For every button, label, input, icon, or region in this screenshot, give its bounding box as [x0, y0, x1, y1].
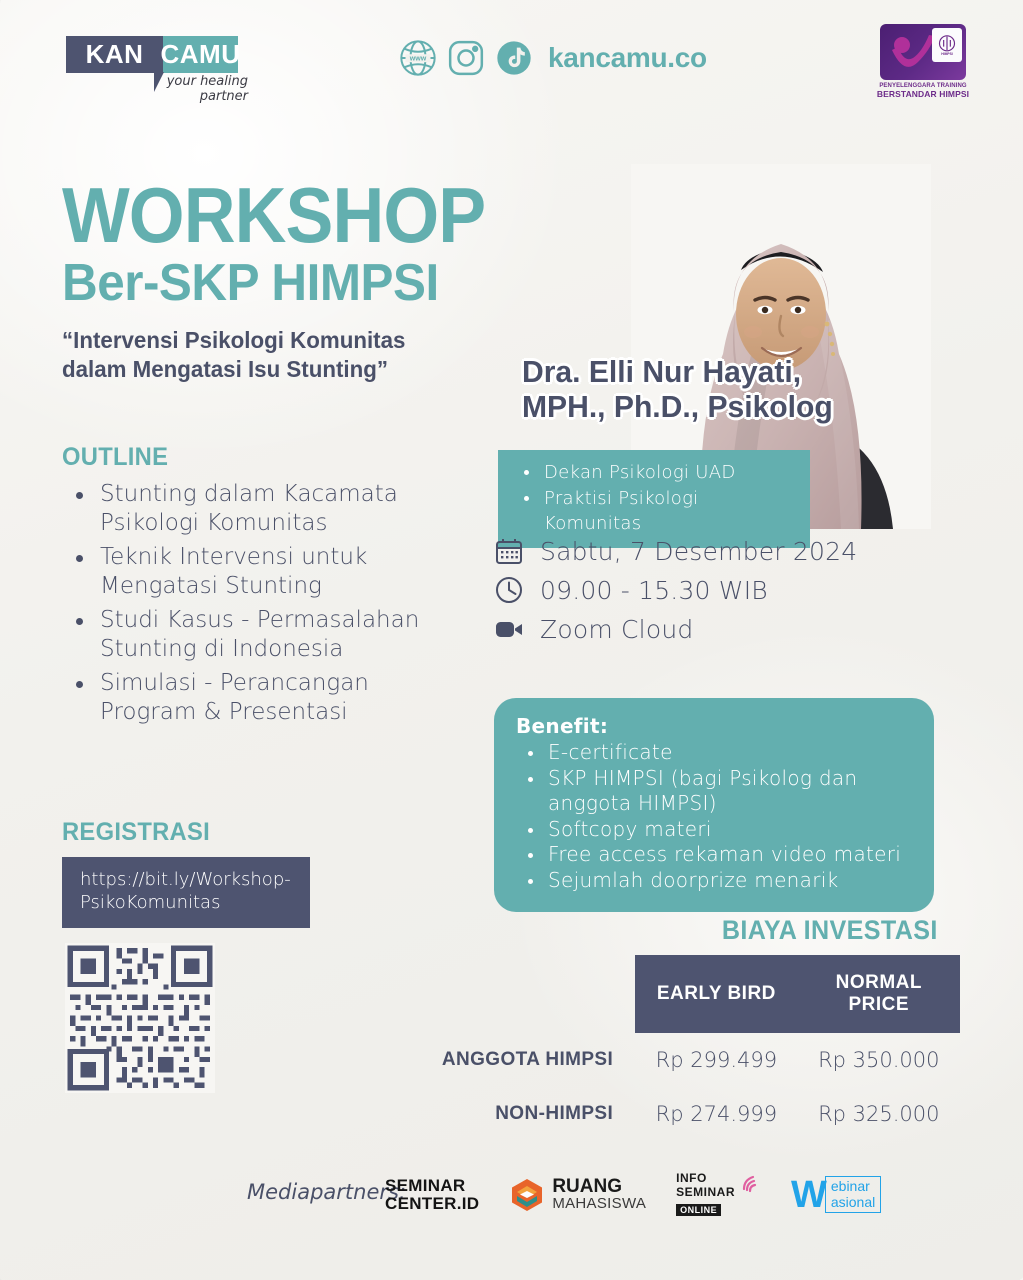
page-subtitle: Ber-SKP HIMPSI	[62, 256, 461, 311]
poster-footer: Mediapartners: SEMINAR CENTER.ID RUANG M…	[0, 1172, 1023, 1262]
himpsi-mark-icon: HIMPSI	[880, 24, 966, 80]
price-anggota-normal: Rp 350.000	[798, 1033, 960, 1087]
column-header-early-bird: EARLY BIRD	[635, 955, 797, 1033]
list-item: SKP HIMPSI (bagi Psikolog dan anggota HI…	[516, 766, 914, 817]
partner-logo-ruang-mahasiswa: RUANG MAHASISWA	[509, 1177, 646, 1213]
partner-seminar-line2: CENTER.ID	[385, 1195, 479, 1213]
himpsi-seal-icon: HIMPSI	[932, 28, 962, 62]
list-item: Free access rekaman video materi	[516, 842, 914, 868]
partner-seminar-line1: SEMINAR	[385, 1177, 479, 1195]
tiktok-icon[interactable]	[494, 38, 534, 78]
partner-webinar-line1: ebinar	[831, 1179, 875, 1195]
partner-ruang-line1: RUANG	[552, 1177, 646, 1196]
table-row: ANGGOTA HIMPSI Rp 299.499 Rp 350.000	[400, 1033, 960, 1087]
price-non-himpsi-normal: Rp 325.000	[798, 1087, 960, 1141]
partner-logo-webinar-nasional: W ebinar asional	[791, 1176, 881, 1213]
list-item: Simulasi - Perancangan Program & Present…	[62, 669, 472, 728]
partner-logo-seminar-center: SEMINAR CENTER.ID	[385, 1177, 479, 1213]
column-header-blank	[400, 955, 635, 1033]
globe-icon[interactable]: www	[398, 38, 438, 78]
pricing-table: EARLY BIRD NORMAL PRICE ANGGOTA HIMPSI R…	[400, 955, 960, 1141]
list-item: Dekan Psikologi UAD	[512, 460, 796, 486]
benefit-heading: Benefit:	[516, 714, 914, 738]
logo-kan-block: KAN	[66, 36, 163, 73]
partner-ruang-line2: MAHASISWA	[552, 1196, 646, 1213]
registration-section: REGISTRASI https://bit.ly/Workshop-Psiko…	[62, 818, 362, 928]
speaker-credentials-box: Dekan Psikologi UAD Praktisi Psikologi K…	[498, 450, 810, 548]
pricing-section: BIAYA INVESTASI EARLY BIRD NORMAL PRICE …	[400, 915, 960, 1141]
event-time-row: 09.00 - 15.30 WIB	[494, 575, 914, 605]
svg-text:www: www	[409, 55, 427, 63]
clock-icon	[494, 575, 524, 605]
table-row: NON-HIMPSI Rp 274.999 Rp 325.000	[400, 1087, 960, 1141]
column-header-normal-price: NORMAL PRICE	[798, 955, 960, 1033]
logo-camu-block: CAMU	[163, 36, 238, 73]
list-item: Praktisi Psikologi Komunitas	[512, 486, 796, 537]
workshop-theme-quote: “Intervensi Psikologi Komunitas dalam Me…	[62, 326, 469, 384]
title-block: WORKSHOP Ber-SKP HIMPSI “Intervensi Psik…	[62, 180, 482, 384]
social-handles: www kancamu.co	[398, 38, 707, 78]
event-time: 09.00 - 15.30 WIB	[540, 576, 768, 605]
partner-info-line3: ONLINE	[676, 1204, 721, 1216]
list-item: Studi Kasus - Permasalahan Stunting di I…	[62, 606, 472, 665]
partner-info-line1: INFO	[676, 1172, 735, 1186]
price-anggota-early-bird: Rp 299.499	[635, 1033, 797, 1087]
row-label-anggota-himpsi: ANGGOTA HIMPSI	[400, 1033, 635, 1087]
outline-list: Stunting dalam Kacamata Psikologi Komuni…	[62, 480, 472, 728]
outline-section: OUTLINE Stunting dalam Kacamata Psikolog…	[62, 443, 472, 732]
list-item: Teknik Intervensi untuk Mengatasi Stunti…	[62, 543, 472, 602]
qr-code[interactable]	[65, 943, 215, 1093]
event-date: Sabtu, 7 Desember 2024	[540, 537, 857, 566]
partner-webinar-w: W	[791, 1179, 827, 1211]
himpsi-badge-line2: BERSTANDAR HIMPSI	[873, 89, 973, 99]
list-item: E-certificate	[516, 740, 914, 766]
benefit-box: Benefit: E-certificate SKP HIMPSI (bagi …	[494, 698, 934, 912]
speaker-name: Dra. Elli Nur Hayati, MPH., Ph.D., Psiko…	[522, 355, 929, 424]
himpsi-accreditation-badge: HIMPSI PENYELENGGARA TRAINING BERSTANDAR…	[873, 24, 973, 104]
price-non-himpsi-early-bird: Rp 274.999	[635, 1087, 797, 1141]
list-item: Sejumlah doorprize menarik	[516, 868, 914, 894]
instagram-icon[interactable]	[446, 38, 486, 78]
kancamu-logo: KAN CAMU your healing partner	[66, 36, 236, 92]
partner-info-line2: SEMINAR	[676, 1186, 735, 1200]
svg-text:HIMPSI: HIMPSI	[941, 52, 953, 56]
mediapartners-logos: SEMINAR CENTER.ID RUANG MAHASISWA INFO	[385, 1172, 881, 1218]
video-camera-icon	[494, 614, 524, 644]
partner-logo-info-seminar-online: INFO SEMINAR ONLINE	[676, 1172, 761, 1218]
signal-wave-icon	[739, 1172, 761, 1194]
mediapartners-label: Mediapartners:	[247, 1180, 406, 1204]
qr-code-image	[65, 943, 215, 1093]
registration-url[interactable]: https://bit.ly/Workshop-PsikoKomunitas	[62, 857, 310, 928]
event-platform-row: Zoom Cloud	[494, 614, 914, 644]
social-handle-text: kancamu.co	[548, 42, 707, 74]
list-item: Softcopy materi	[516, 817, 914, 843]
partner-webinar-line2: asional	[831, 1195, 875, 1211]
poster-header: KAN CAMU your healing partner www	[0, 0, 1023, 120]
poster-canvas: KAN CAMU your healing partner www	[0, 0, 1023, 1280]
partner-webinar-box: ebinar asional	[825, 1176, 881, 1213]
speaker-section: Dra. Elli Nur Hayati, MPH., Ph.D., Psiko…	[486, 150, 986, 550]
list-item: Stunting dalam Kacamata Psikologi Komuni…	[62, 480, 472, 539]
registration-heading: REGISTRASI	[62, 818, 347, 847]
event-details: Sabtu, 7 Desember 2024 09.00 - 15.30 WIB…	[494, 536, 914, 653]
row-label-non-himpsi: NON-HIMPSI	[400, 1087, 635, 1141]
outline-heading: OUTLINE	[62, 443, 452, 472]
logo-tagline: your healing partner	[118, 74, 248, 104]
event-platform: Zoom Cloud	[540, 615, 693, 644]
calendar-icon	[494, 536, 524, 566]
hexagon-icon	[509, 1177, 545, 1213]
page-title: WORKSHOP	[62, 180, 448, 252]
event-date-row: Sabtu, 7 Desember 2024	[494, 536, 914, 566]
benefit-list: E-certificate SKP HIMPSI (bagi Psikolog …	[516, 740, 914, 894]
pricing-heading: BIAYA INVESTASI	[439, 915, 960, 946]
table-header-row: EARLY BIRD NORMAL PRICE	[400, 955, 960, 1033]
